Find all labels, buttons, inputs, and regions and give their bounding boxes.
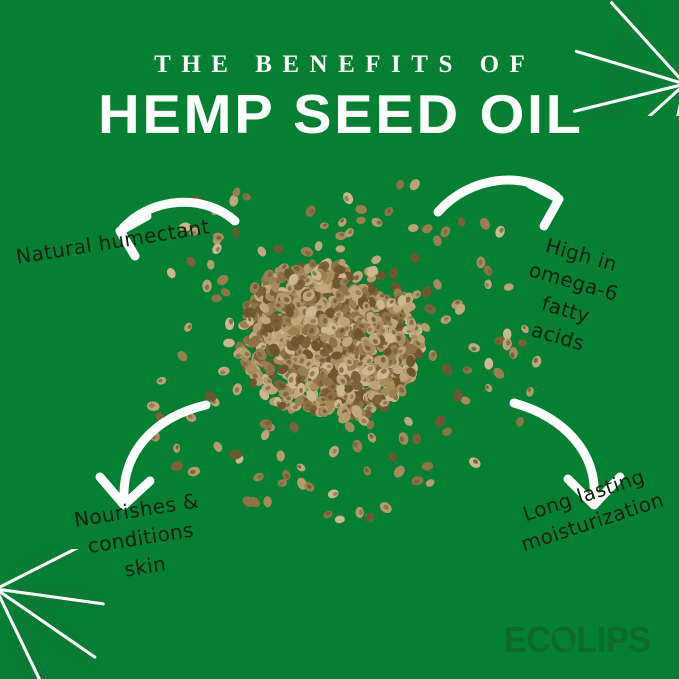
infographic-poster: THE BENEFITS OF HEMP SEED OIL Natural hu…	[0, 0, 679, 679]
callout-natural-humectant: Natural humectant	[14, 212, 212, 271]
brand-logo: ECOLIPS	[496, 623, 651, 657]
title-block: THE BENEFITS OF HEMP SEED OIL	[0, 52, 679, 142]
page-title: HEMP SEED OIL	[0, 86, 679, 142]
brand-name: ECOLIPS	[504, 622, 651, 658]
brand-leaf-o-icon: O	[551, 619, 577, 660]
callout-omega-6: High in omega-6 fatty acids	[487, 222, 653, 370]
callout-long-lasting: Long lasting moisturization	[508, 459, 668, 559]
eyebrow-text: THE BENEFITS OF	[0, 52, 679, 77]
arrow-to-omega6-icon	[432, 158, 582, 240]
callout-nourishes-skin: Nourishes & conditions skin	[60, 485, 221, 593]
